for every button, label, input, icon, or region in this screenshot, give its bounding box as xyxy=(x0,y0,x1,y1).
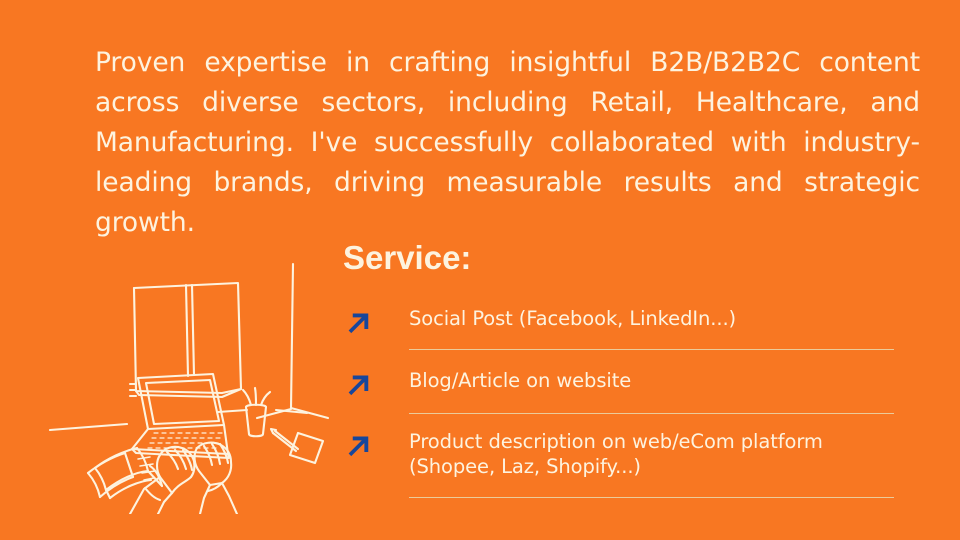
window-shape xyxy=(130,283,241,397)
laptop-keyboard-keys xyxy=(148,433,222,448)
pen-shape xyxy=(271,429,298,451)
arrow-cell xyxy=(343,368,409,401)
service-item-divider xyxy=(409,413,894,414)
laptop-shape xyxy=(132,374,229,458)
service-item-divider xyxy=(409,349,894,350)
arrow-up-right-icon xyxy=(343,371,373,401)
service-list-item[interactable]: Product description on web/eCom platform… xyxy=(343,429,903,498)
open-book-shape xyxy=(88,448,162,498)
desk-illustration xyxy=(32,252,332,514)
service-item-label: Product description on web/eCom platform… xyxy=(409,429,903,479)
intro-paragraph: Proven expertise in crafting insightful … xyxy=(95,43,920,243)
arrow-cell xyxy=(343,429,409,462)
service-list-item[interactable]: Blog/Article on website xyxy=(343,368,903,414)
slide-canvas: Proven expertise in crafting insightful … xyxy=(0,0,960,540)
arrow-up-right-icon xyxy=(343,432,373,462)
service-row-body: Blog/Article on website xyxy=(409,368,903,414)
service-row-body: Social Post (Facebook, LinkedIn...) xyxy=(409,306,903,350)
service-heading: Service: xyxy=(343,238,903,278)
pen-cup-shape xyxy=(243,388,270,436)
service-section: Service: Social Post (Facebook, LinkedIn… xyxy=(343,238,903,498)
service-row-body: Product description on web/eCom platform… xyxy=(409,429,903,498)
service-item-label: Blog/Article on website xyxy=(409,368,903,393)
left-hand-shape xyxy=(130,447,194,514)
arrow-cell xyxy=(343,306,409,339)
sticky-note-shape xyxy=(290,433,323,463)
desk-illustration-svg xyxy=(32,252,332,514)
service-item-divider xyxy=(409,497,894,498)
service-list-item[interactable]: Social Post (Facebook, LinkedIn...) xyxy=(343,306,903,350)
service-item-label: Social Post (Facebook, LinkedIn...) xyxy=(409,306,903,331)
arrow-up-right-icon xyxy=(343,309,373,339)
